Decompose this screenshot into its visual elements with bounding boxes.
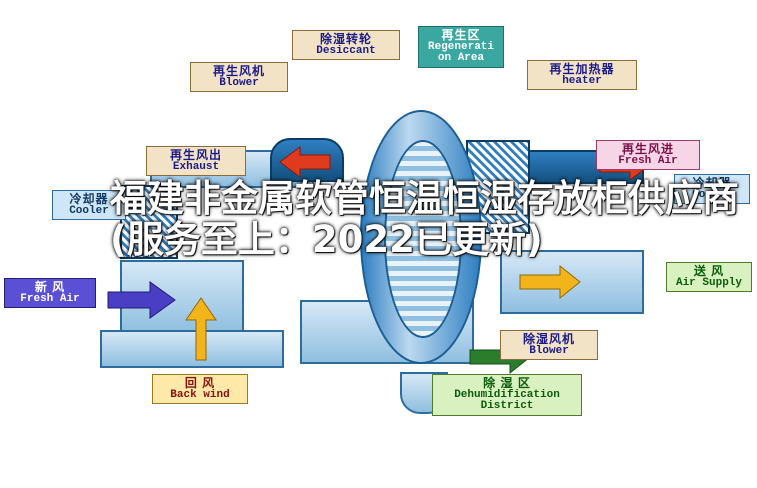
label-regeneration-exhaust: 再生风出 Exhaust (146, 146, 246, 176)
label-dehumidification-blower: 除湿风机 Blower (500, 330, 598, 360)
label-dehumidification-district: 除 湿 区 Dehumidification District (432, 374, 582, 416)
overlay-title: 福建非金属软管恒温恒湿存放柜供应商(服务至上：2022已更新) (0, 178, 757, 261)
label-fresh-air: 新 风 Fresh Air (4, 278, 96, 308)
label-regeneration-inlet: 再生风进 Fresh Air (596, 140, 700, 170)
label-desiccant-wheel: 除湿转轮 Desiccant (292, 30, 400, 60)
label-regeneration-area: 再生区 Regenerati on Area (418, 26, 504, 68)
diagram-canvas: 除湿转轮 Desiccant 再生区 Regenerati on Area 再生… (0, 0, 757, 488)
label-regeneration-heater: 再生加热器 heater (527, 60, 637, 90)
label-back-wind: 回 风 Back wind (152, 374, 248, 404)
label-air-supply: 送 风 Air Supply (666, 262, 752, 292)
label-regeneration-blower: 再生风机 Blower (190, 62, 288, 92)
